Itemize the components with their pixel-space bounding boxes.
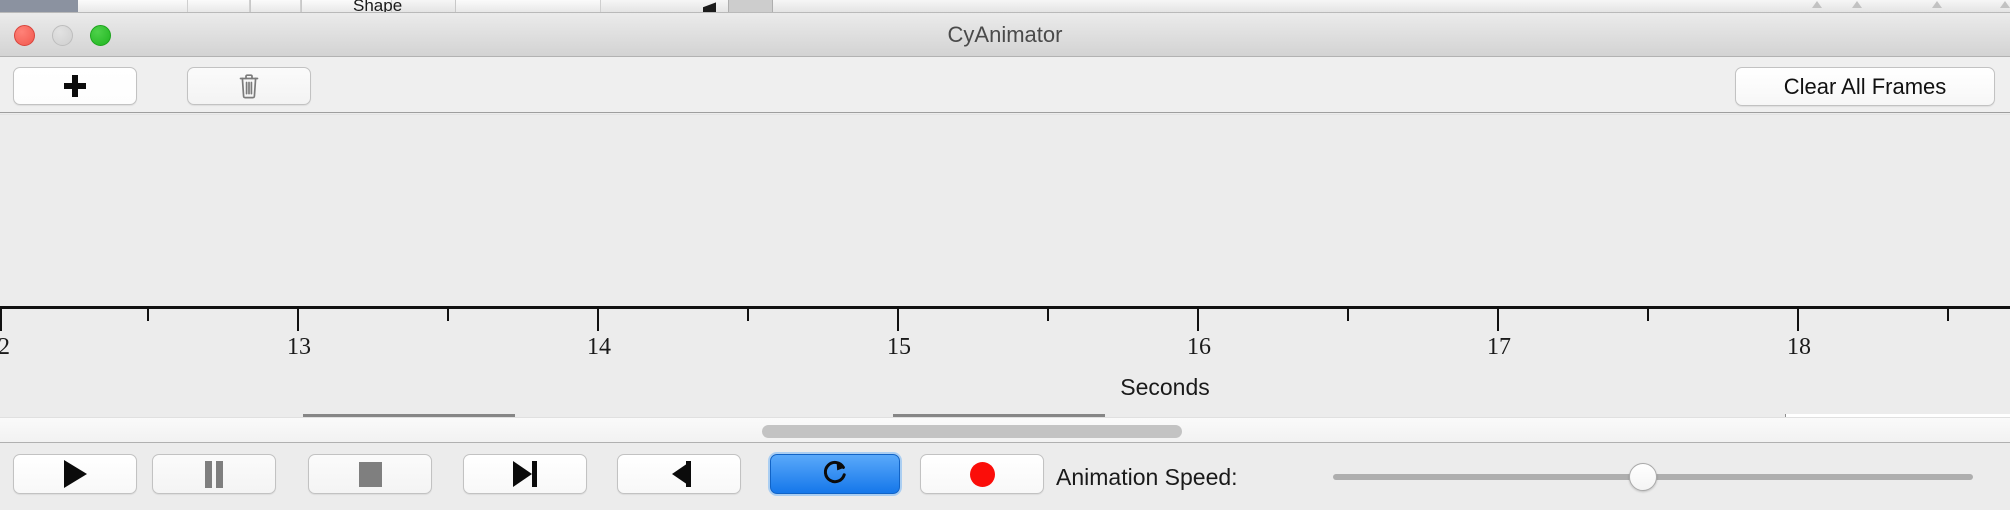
timeline-ruler[interactable]: 2 13 14 15 16 17 18 Seconds xyxy=(0,306,2010,414)
ruler-tick-label: 15 xyxy=(887,334,911,361)
pause-icon xyxy=(204,461,224,488)
sort-arrow-icon xyxy=(1932,1,1942,8)
background-column-header xyxy=(188,0,250,12)
record-icon xyxy=(970,462,995,487)
playback-controls-bar: Animation Speed: xyxy=(0,444,2010,510)
ruler-tick-major xyxy=(1197,309,1199,331)
ruler-tick-major xyxy=(297,309,299,331)
ruler-tick-label: 17 xyxy=(1487,334,1511,361)
window-title: CyAnimator xyxy=(0,13,2010,57)
background-column-header xyxy=(78,0,188,12)
ruler-tick-minor xyxy=(147,309,149,321)
ruler-tick-minor xyxy=(1947,309,1949,321)
stop-button[interactable] xyxy=(308,454,432,494)
ruler-tick-minor xyxy=(447,309,449,321)
sort-arrow-icon xyxy=(1812,1,1822,8)
ruler-tick-minor xyxy=(1647,309,1649,321)
background-selected-row xyxy=(0,0,78,12)
skip-to-end-icon xyxy=(667,461,691,487)
frame-toolbar: Clear All Frames xyxy=(0,57,2010,113)
ruler-baseline xyxy=(0,306,2010,309)
ruler-tick-label: 14 xyxy=(587,334,611,361)
slider-thumb[interactable] xyxy=(1629,463,1657,491)
ruler-tick-label: 18 xyxy=(1787,334,1811,361)
timeline-panel[interactable]: MCM1 xyxy=(0,114,2010,314)
add-frame-button[interactable] xyxy=(13,67,137,105)
background-window-label: Shape xyxy=(353,0,402,13)
play-icon xyxy=(64,460,87,488)
scrollbar-thumb[interactable] xyxy=(762,425,1182,438)
background-column-header xyxy=(251,0,301,12)
ruler-tick-minor xyxy=(1347,309,1349,321)
ruler-tick-label: 2 xyxy=(0,334,10,361)
skip-to-start-button[interactable] xyxy=(463,454,587,494)
clear-all-frames-button[interactable]: Clear All Frames xyxy=(1735,67,1995,106)
ruler-tick-minor xyxy=(1047,309,1049,321)
timeline-horizontal-scrollbar[interactable] xyxy=(0,417,2010,443)
ruler-axis-title: Seconds xyxy=(0,374,2010,401)
trash-icon xyxy=(238,73,260,99)
background-column-header xyxy=(456,0,601,12)
play-button[interactable] xyxy=(13,454,137,494)
skip-to-start-icon xyxy=(513,461,537,487)
ruler-tick-major xyxy=(597,309,599,331)
ruler-tick-label: 13 xyxy=(287,334,311,361)
ruler-tick-major xyxy=(897,309,899,331)
background-cursor-mark xyxy=(703,0,716,12)
ruler-tick-label: 16 xyxy=(1187,334,1211,361)
ruler-tick-major xyxy=(0,309,2,331)
ruler-tick-minor xyxy=(747,309,749,321)
animation-speed-label: Animation Speed: xyxy=(1056,444,1238,510)
plus-icon xyxy=(64,75,86,97)
ruler-tick-major xyxy=(1797,309,1799,331)
background-gray-block xyxy=(728,0,773,12)
background-window-strip: Shape xyxy=(0,0,2010,13)
sort-arrow-icon xyxy=(2000,1,2010,8)
loop-toggle-button[interactable] xyxy=(770,454,900,494)
stop-icon xyxy=(359,462,382,487)
record-button[interactable] xyxy=(920,454,1044,494)
ruler-tick-major xyxy=(1497,309,1499,331)
pause-button[interactable] xyxy=(152,454,276,494)
skip-to-end-button[interactable] xyxy=(617,454,741,494)
sort-arrow-icon xyxy=(1852,1,1862,8)
loop-icon xyxy=(821,458,849,491)
animation-speed-slider[interactable] xyxy=(1333,444,1973,510)
window-titlebar: CyAnimator xyxy=(0,13,2010,57)
delete-frame-button[interactable] xyxy=(187,67,311,105)
